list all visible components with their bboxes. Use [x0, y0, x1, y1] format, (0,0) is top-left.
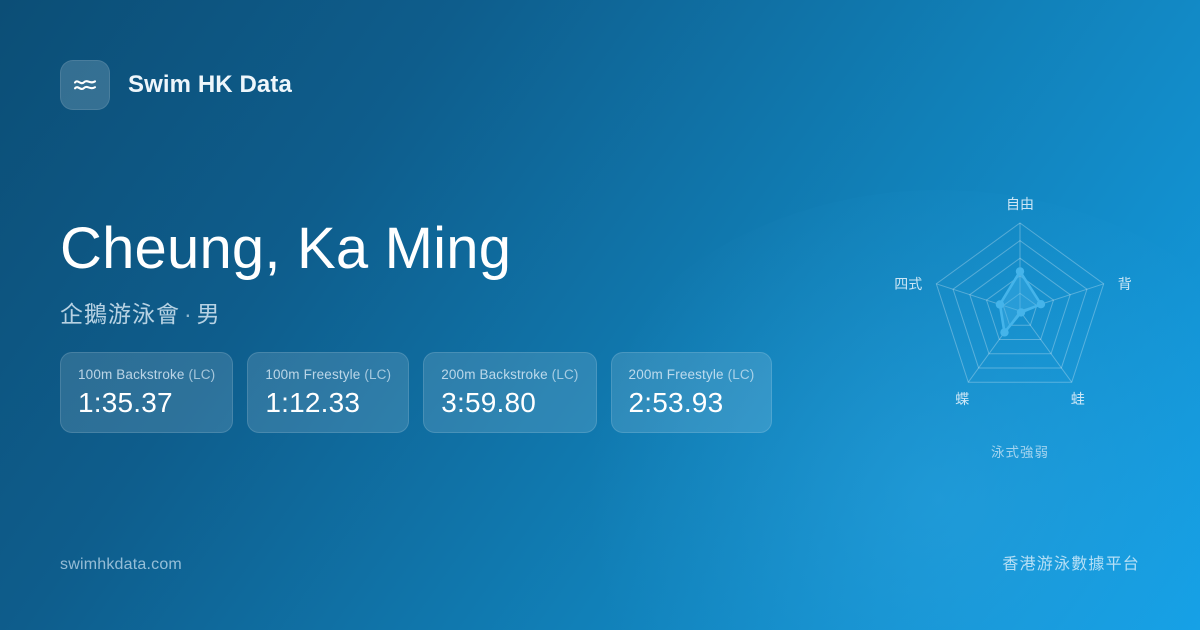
- stat-card-course: (LC): [552, 367, 579, 382]
- stat-card-list: 100m Backstroke (LC) 1:35.37 100m Freest…: [60, 352, 772, 433]
- stat-card-course: (LC): [728, 367, 755, 382]
- radar-series-area: [1000, 271, 1041, 332]
- radar-data-point: [1017, 308, 1025, 316]
- stat-card: 100m Backstroke (LC) 1:35.37: [60, 352, 233, 433]
- stat-card-label: 200m Freestyle (LC): [629, 367, 755, 382]
- radar-axis-label: 蛙: [1071, 391, 1085, 407]
- brand: Swim HK Data: [60, 60, 292, 110]
- footer-site-url: swimhkdata.com: [60, 556, 182, 574]
- stat-card-value: 2:53.93: [629, 388, 755, 417]
- radar-axis-label: 蝶: [955, 391, 969, 407]
- meta-separator: ·: [180, 301, 197, 327]
- brand-logo: [60, 60, 110, 110]
- stat-card-event: 100m Freestyle: [265, 367, 360, 382]
- radar-caption: 泳式強弱: [870, 441, 1170, 461]
- athlete-club: 企鵝游泳會: [60, 301, 180, 327]
- radar-data-point: [1037, 300, 1045, 308]
- wave-icon: [71, 71, 99, 99]
- radar-chart: 自由背蛙蝶四式: [870, 170, 1170, 470]
- radar-axis-label: 四式: [894, 276, 922, 292]
- stat-card-course: (LC): [364, 367, 391, 382]
- stat-card-label: 200m Backstroke (LC): [441, 367, 578, 382]
- stat-card-value: 1:12.33: [265, 388, 391, 417]
- stat-card-event: 200m Backstroke: [441, 367, 548, 382]
- radar-data-point: [1016, 267, 1024, 275]
- page-title: Cheung, Ka Ming: [60, 218, 511, 281]
- stat-card: 200m Backstroke (LC) 3:59.80: [423, 352, 596, 433]
- stat-card-event: 200m Freestyle: [629, 367, 724, 382]
- athlete-gender: 男: [197, 301, 221, 327]
- stat-card-label: 100m Freestyle (LC): [265, 367, 391, 382]
- radar-data-point: [1000, 328, 1008, 336]
- stat-card: 200m Freestyle (LC) 2:53.93: [611, 352, 773, 433]
- radar-axis-label: 自由: [1006, 196, 1034, 212]
- radar-data-point: [996, 300, 1004, 308]
- stat-card: 100m Freestyle (LC) 1:12.33: [247, 352, 409, 433]
- radar-axis-label: 背: [1118, 276, 1132, 292]
- stat-card-value: 1:35.37: [78, 388, 215, 417]
- athlete-block: Cheung, Ka Ming 企鵝游泳會·男: [60, 218, 511, 329]
- stat-card-course: (LC): [188, 367, 215, 382]
- footer-tagline: 香港游泳數據平台: [1002, 550, 1140, 574]
- brand-name: Swim HK Data: [128, 71, 292, 99]
- stat-card-label: 100m Backstroke (LC): [78, 367, 215, 382]
- radar-spoke: [1020, 311, 1072, 382]
- og-card: Swim HK Data Cheung, Ka Ming 企鵝游泳會·男 100…: [0, 0, 1200, 630]
- stat-card-event: 100m Backstroke: [78, 367, 185, 382]
- stat-card-value: 3:59.80: [441, 388, 578, 417]
- athlete-meta: 企鵝游泳會·男: [60, 295, 511, 329]
